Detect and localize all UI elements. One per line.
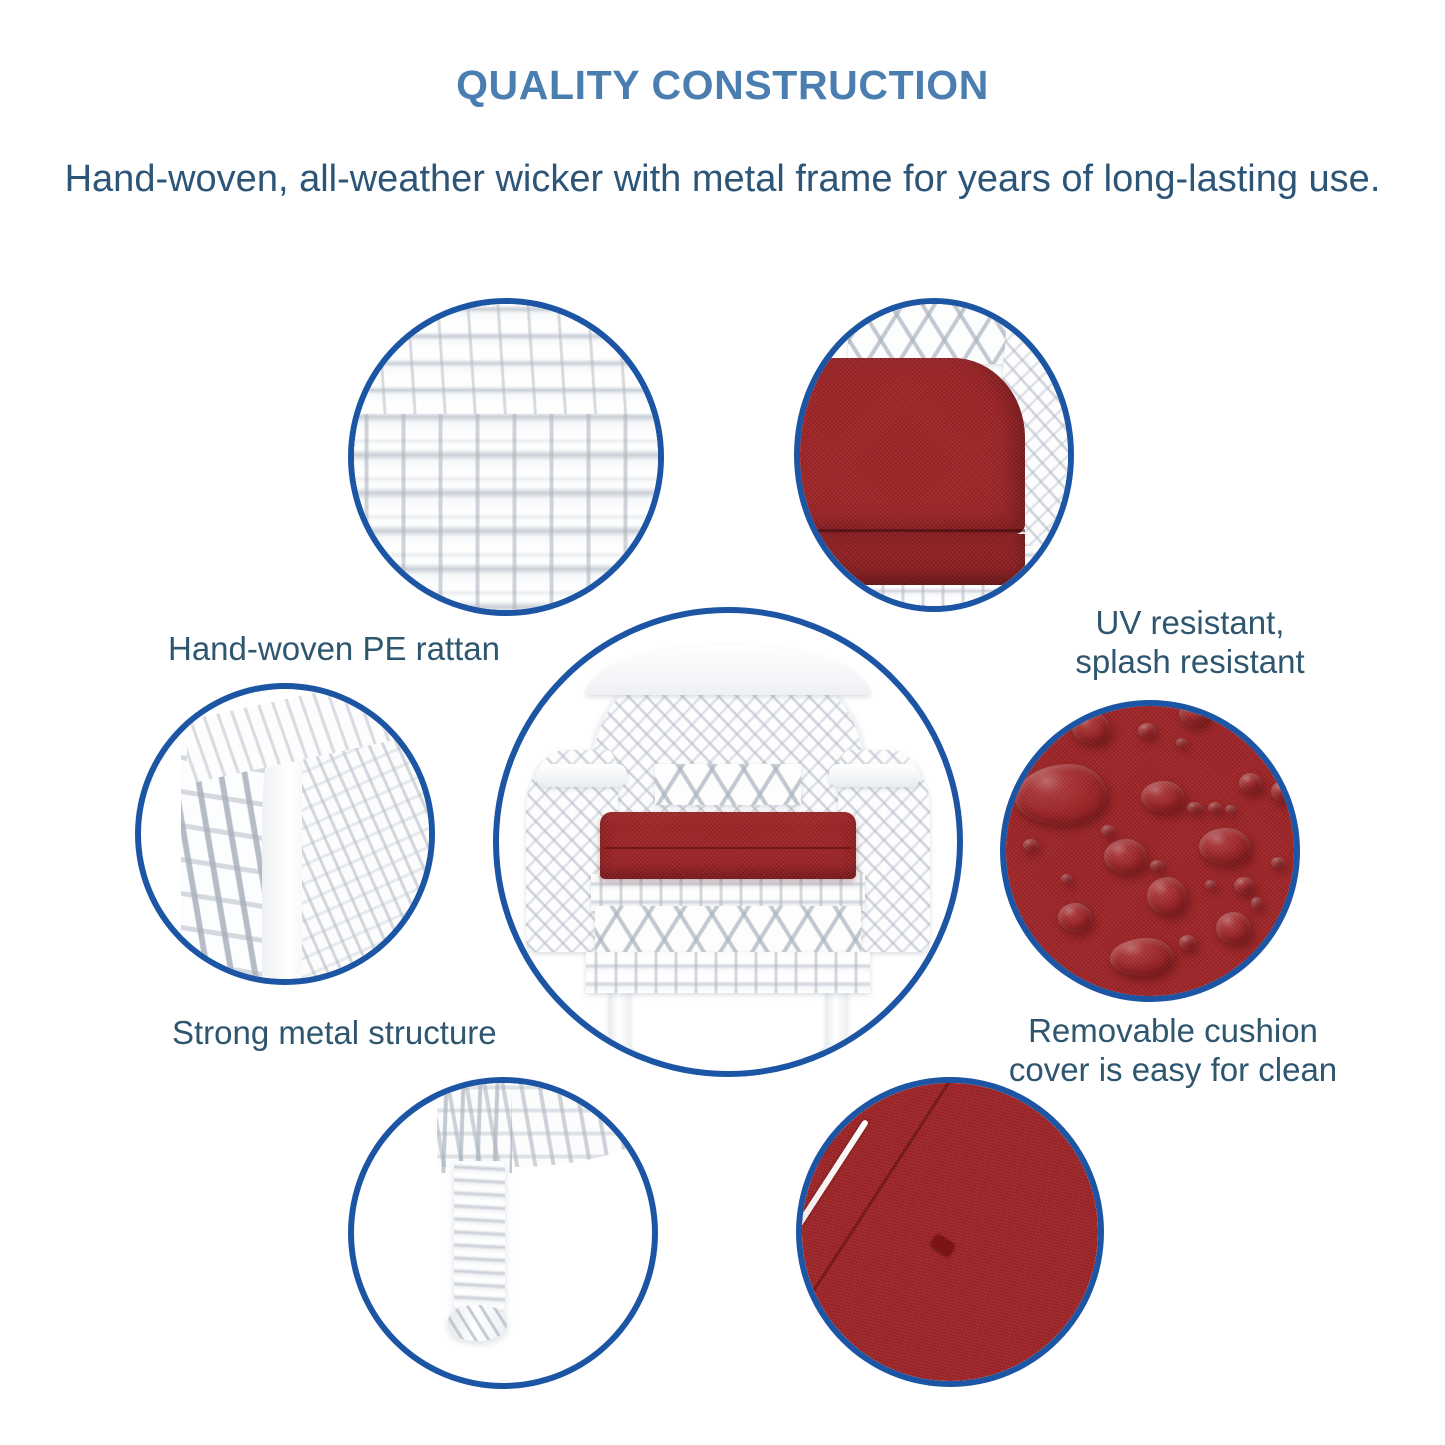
feature-circle-uv-splash-resistant: [794, 298, 1074, 612]
zipper-red-fabric: [802, 1083, 1098, 1381]
wicker-corner-photo: [141, 689, 429, 979]
water-droplet: [1216, 912, 1251, 944]
water-droplet: [1251, 897, 1263, 909]
feature-circle-strong-metal-structure: [135, 683, 435, 985]
cushion-side-band: [800, 534, 1025, 585]
water-droplet: [1058, 903, 1093, 932]
white-wicker-armchair-photo: [499, 613, 957, 1071]
leg-wrapped-shaft: [454, 1161, 505, 1317]
chair-back-decorative-lattice: [655, 764, 802, 805]
feature-circle-chair-leg-detail: [348, 1077, 658, 1389]
seat-cushion-texture: [600, 812, 856, 878]
chair-back-top-rim: [586, 645, 870, 695]
rattan-weave-photo: [354, 304, 658, 610]
feature-circle-full-chair: [493, 607, 963, 1077]
cushion-fabric-texture: [800, 358, 1025, 533]
water-droplet: [1150, 860, 1164, 872]
chair-front-left-foot: [602, 1044, 636, 1065]
water-droplet: [1199, 828, 1251, 866]
leg-vertical-strands: [440, 1083, 512, 1173]
page-title: QUALITY CONSTRUCTION: [0, 62, 1445, 109]
chair-back-lattice: [848, 304, 1009, 364]
chair-seat-cushion: [600, 812, 856, 878]
flat-weave-texture: [354, 414, 658, 610]
caption-removable-cushion-cover: Removable cushion cover is easy for clea…: [990, 1012, 1356, 1090]
chair-leg-photo: [354, 1083, 652, 1383]
seat-cushion-piping: [605, 847, 851, 849]
feature-circle-hand-woven-pe-rattan: [348, 298, 664, 616]
cushion-top: [800, 358, 1025, 533]
water-droplet: [1179, 935, 1196, 950]
water-droplet: [1208, 802, 1222, 814]
leg-foot-cap: [448, 1305, 508, 1341]
feature-circle-cushion-zipper-detail: [796, 1077, 1104, 1387]
chair-right-armrest-top: [829, 764, 921, 787]
leg-cord-texture: [454, 1161, 505, 1317]
water-droplet: [1138, 723, 1155, 738]
water-droplet: [1176, 738, 1188, 747]
chair-left-armrest-top: [536, 764, 628, 787]
water-droplet: [1271, 781, 1294, 801]
water-droplet: [1147, 877, 1187, 915]
water-droplet: [1141, 781, 1184, 813]
zipper-fabric-texture: [802, 1083, 1098, 1381]
cushion-piping-seam: [800, 529, 1025, 532]
quality-construction-infographic: QUALITY CONSTRUCTION Hand-woven, all-wea…: [0, 0, 1445, 1445]
foot-cap-weave-texture: [448, 1305, 508, 1341]
water-droplets-photo: [1006, 706, 1294, 996]
water-droplet: [1072, 712, 1109, 744]
chair-front-right-foot: [820, 1044, 854, 1065]
page-subtitle: Hand-woven, all-weather wicker with meta…: [0, 158, 1445, 201]
curved-weave-texture: [354, 304, 658, 430]
water-droplet: [1205, 880, 1217, 889]
water-droplet: [1023, 839, 1037, 851]
feature-circle-removable-cushion-cover: [1000, 700, 1300, 1002]
cushion-band-texture: [800, 534, 1025, 585]
water-droplet: [1239, 773, 1262, 793]
water-droplet: [1061, 874, 1073, 883]
water-droplet: [1110, 938, 1173, 976]
chair-bottom-rail: [586, 952, 870, 993]
chair-front-apron-lattice: [595, 906, 861, 956]
cushion-closeup-photo: [800, 304, 1068, 606]
cushion-zipper-photo: [802, 1083, 1098, 1381]
caption-uv-splash-resistant: UV resistant, splash resistant: [1020, 604, 1360, 682]
water-droplet: [1104, 839, 1147, 874]
water-droplet: [1187, 802, 1201, 814]
